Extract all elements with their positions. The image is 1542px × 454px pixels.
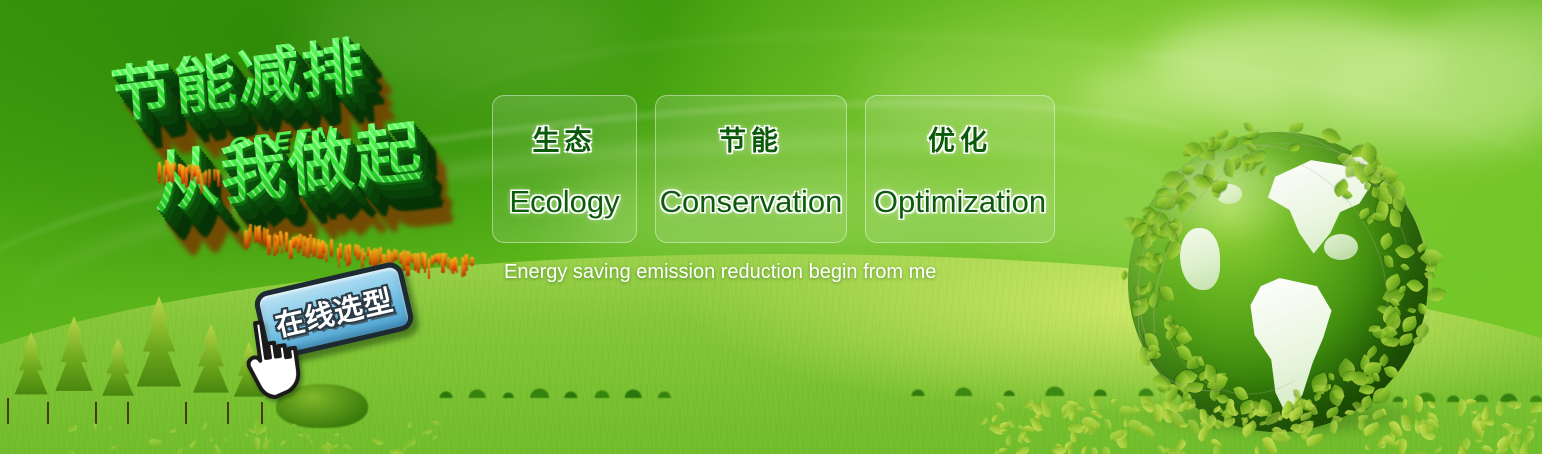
distant-treeline bbox=[420, 368, 680, 398]
ember-accent bbox=[158, 162, 160, 179]
feature-card-en: Conservation bbox=[660, 184, 843, 220]
ember-accent bbox=[349, 245, 351, 264]
feature-card-en: Ecology bbox=[509, 184, 619, 220]
ember-accent bbox=[456, 260, 458, 273]
hand-pointer-icon bbox=[241, 312, 320, 403]
feature-card-conservation[interactable]: 节能 Conservation bbox=[655, 95, 847, 243]
ember-accent bbox=[313, 241, 317, 254]
ember-accent bbox=[339, 243, 341, 258]
ember-accents bbox=[104, 42, 488, 270]
feature-card-ecology[interactable]: 生态 Ecology bbox=[492, 95, 637, 243]
ember-accent bbox=[330, 239, 333, 255]
ember-accent bbox=[325, 244, 329, 262]
feature-card-cn: 生态 bbox=[533, 119, 597, 158]
feature-card-optimization[interactable]: 优化 Optimization bbox=[865, 95, 1055, 243]
ember-accent bbox=[465, 254, 468, 271]
feature-card-list: 生态 Ecology 节能 Conservation 优化 Optimizati… bbox=[492, 95, 1055, 243]
ember-accent bbox=[417, 253, 420, 273]
ember-accent bbox=[298, 234, 302, 249]
ember-accent bbox=[428, 258, 430, 279]
feature-card-en: Optimization bbox=[874, 184, 1046, 220]
ember-accent bbox=[363, 252, 366, 260]
tagline: Energy saving emission reduction begin f… bbox=[504, 261, 936, 284]
ember-accent bbox=[395, 250, 398, 260]
ember-accent bbox=[249, 224, 252, 242]
ember-accent bbox=[281, 234, 283, 255]
feature-card-cn: 优化 bbox=[928, 119, 992, 158]
ember-accent bbox=[217, 170, 220, 187]
leafy-globe-icon bbox=[1118, 126, 1448, 454]
ember-accent bbox=[174, 162, 176, 171]
headline-art: 节能减排 GREEN 从我做起 bbox=[104, 42, 488, 270]
ember-accent bbox=[402, 250, 406, 271]
leaf-icon bbox=[1290, 121, 1305, 133]
feature-card-cn: 节能 bbox=[719, 119, 783, 158]
ember-accent bbox=[438, 254, 440, 265]
ember-accent bbox=[259, 225, 262, 244]
ember-accent bbox=[431, 255, 433, 267]
eco-banner: 节能减排 GREEN 从我做起 在线选型 生态 Ecology 节能 Conse… bbox=[0, 0, 1542, 454]
ember-accent bbox=[470, 257, 474, 266]
ember-accent bbox=[205, 170, 208, 179]
ember-accent bbox=[285, 232, 288, 252]
ember-accent bbox=[209, 169, 211, 184]
ember-accent bbox=[268, 235, 270, 252]
ember-accent bbox=[309, 234, 312, 254]
